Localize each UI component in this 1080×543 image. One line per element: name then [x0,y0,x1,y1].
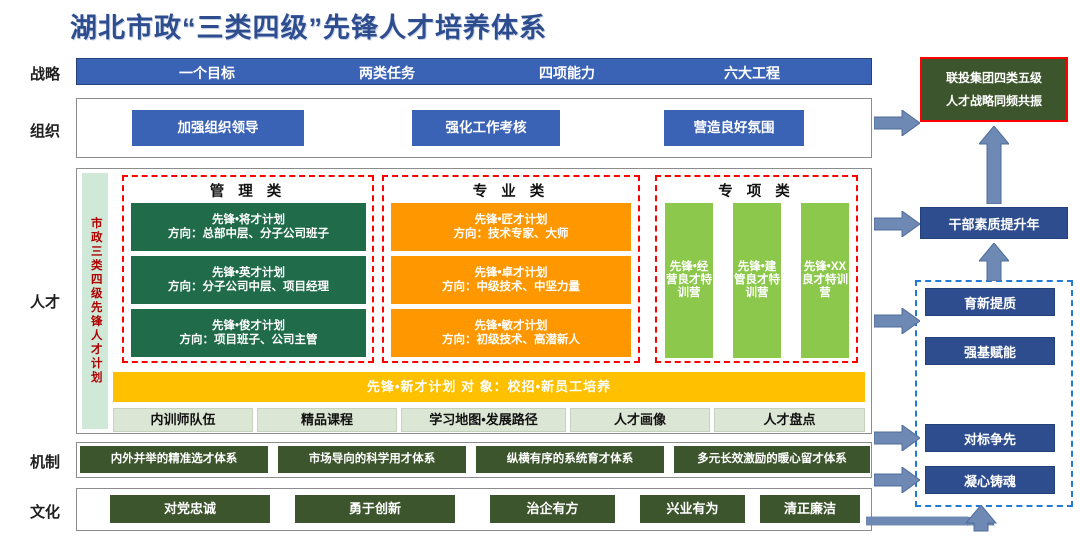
category-title-management: 管 理 类 [122,180,374,201]
culture-box-1[interactable]: 勇于创新 [295,495,455,523]
organization-box-1[interactable]: 强化工作考核 [412,110,560,146]
management-plan-2[interactable]: 先锋•俊才计划 方向：项目班子、公司主管 [131,309,366,357]
strategy-item-3[interactable]: 六大工程 [657,59,847,86]
arrow-elbow-culture-to-pillars-icon [866,505,1006,541]
management-plan-2-direction: 方向：项目班子、公司主管 [180,333,318,347]
row-label-talent: 人才 [16,291,74,312]
support-item-1[interactable]: 精品课程 [257,408,397,432]
strategy-bar: 一个目标 两类任务 四项能力 六大工程 [76,58,872,85]
culture-box-4[interactable]: 清正廉洁 [760,495,860,523]
pillar-box-3[interactable]: 凝心铸魂 [925,466,1055,494]
mechanism-box-0[interactable]: 内外并举的精准选才体系 [80,446,268,473]
support-item-3[interactable]: 人才画像 [570,408,710,432]
management-plan-0-name: 先锋•将才计划 [168,213,329,227]
row-label-strategy: 战略 [16,63,74,84]
row-label-mechanism: 机制 [16,451,74,472]
professional-plan-1[interactable]: 先锋•卓才计划 方向：中级技术、中坚力量 [391,256,631,304]
professional-plan-1-direction: 方向：中级技术、中坚力量 [442,280,580,294]
row-label-organization: 组织 [16,120,74,141]
new-talent-bar[interactable]: 先锋•新才计划 对 象：校招•新员工培养 [113,372,865,402]
arrow-right-to-pillar-0-icon [874,308,920,334]
professional-plan-2-name: 先锋•敏才计划 [442,319,580,333]
culture-box-0[interactable]: 对党忠诚 [110,495,270,523]
professional-plan-0[interactable]: 先锋•匠才计划 方向：技术专家、大师 [391,203,631,251]
diagram-canvas: 湖北市政“三类四级”先锋人才培养体系 战略 组织 人才 机制 文化 一个目标 两… [0,0,1080,543]
row-label-culture: 文化 [16,501,74,522]
professional-plan-0-name: 先锋•匠才计划 [454,213,569,227]
category-title-special: 专 项 类 [655,180,858,201]
management-plan-1[interactable]: 先锋•英才计划 方向：分子公司中层、项目经理 [131,256,366,304]
strategy-item-2[interactable]: 四项能力 [477,59,657,86]
support-item-2[interactable]: 学习地图•发展路径 [401,408,566,432]
culture-box-2[interactable]: 治企有方 [490,495,615,523]
mechanism-box-1[interactable]: 市场导向的科学用才体系 [278,446,466,473]
organization-box-0[interactable]: 加强组织领导 [132,110,304,146]
strategy-item-0[interactable]: 一个目标 [117,59,297,86]
hero-line-1: 联投集团四类五级 [946,67,1042,90]
strategy-item-1[interactable]: 两类任务 [297,59,477,86]
management-plan-1-direction: 方向：分子公司中层、项目经理 [168,280,329,294]
arrow-right-to-hero-icon [874,110,920,136]
organization-box-2[interactable]: 营造良好氛围 [664,110,804,146]
management-plan-0-direction: 方向：总部中层、分子公司班子 [168,227,329,241]
hero-line-2: 人才战略同频共振 [946,90,1042,113]
hero-box[interactable]: 联投集团四类五级 人才战略同频共振 [920,57,1068,122]
special-camp-2[interactable]: 先锋•XX良才特训营 [801,203,849,358]
management-plan-1-name: 先锋•英才计划 [168,266,329,280]
arrow-right-to-year-icon [874,211,920,237]
arrow-right-to-pillar-3-icon [874,467,920,493]
professional-plan-1-name: 先锋•卓才计划 [442,266,580,280]
category-title-professional: 专 业 类 [382,180,640,201]
page-title: 湖北市政“三类四级”先锋人才培养体系 [70,6,770,45]
talent-vertical-label-text: 市政三类四级先锋人才计划 [89,217,101,385]
talent-vertical-label: 市政三类四级先锋人才计划 [82,173,108,429]
mechanism-box-3[interactable]: 多元长效激励的暖心留才体系 [674,446,870,473]
support-item-4[interactable]: 人才盘点 [714,408,865,432]
special-camp-1[interactable]: 先锋•建管良才特训营 [733,203,781,358]
pillar-box-2[interactable]: 对标争先 [925,424,1055,452]
professional-plan-2[interactable]: 先锋•敏才计划 方向：初级技术、高潜新人 [391,309,631,357]
special-camp-0[interactable]: 先锋•经营良才特训营 [665,203,713,358]
mechanism-box-2[interactable]: 纵横有序的系统育才体系 [476,446,664,473]
management-plan-0[interactable]: 先锋•将才计划 方向：总部中层、分子公司班子 [131,203,366,251]
year-box[interactable]: 干部素质提升年 [920,207,1068,239]
professional-plan-2-direction: 方向：初级技术、高潜新人 [442,333,580,347]
professional-plan-0-direction: 方向：技术专家、大师 [454,227,569,241]
arrow-up-pillars-to-year-icon [979,243,1009,281]
arrow-right-to-pillar-2-icon [874,425,920,451]
culture-box-3[interactable]: 兴业有为 [640,495,745,523]
support-item-0[interactable]: 内训师队伍 [113,408,253,432]
arrow-up-year-to-hero-icon [979,126,1009,204]
management-plan-2-name: 先锋•俊才计划 [180,319,318,333]
pillar-box-1[interactable]: 强基赋能 [925,337,1055,365]
pillar-box-0[interactable]: 育新提质 [925,288,1055,316]
